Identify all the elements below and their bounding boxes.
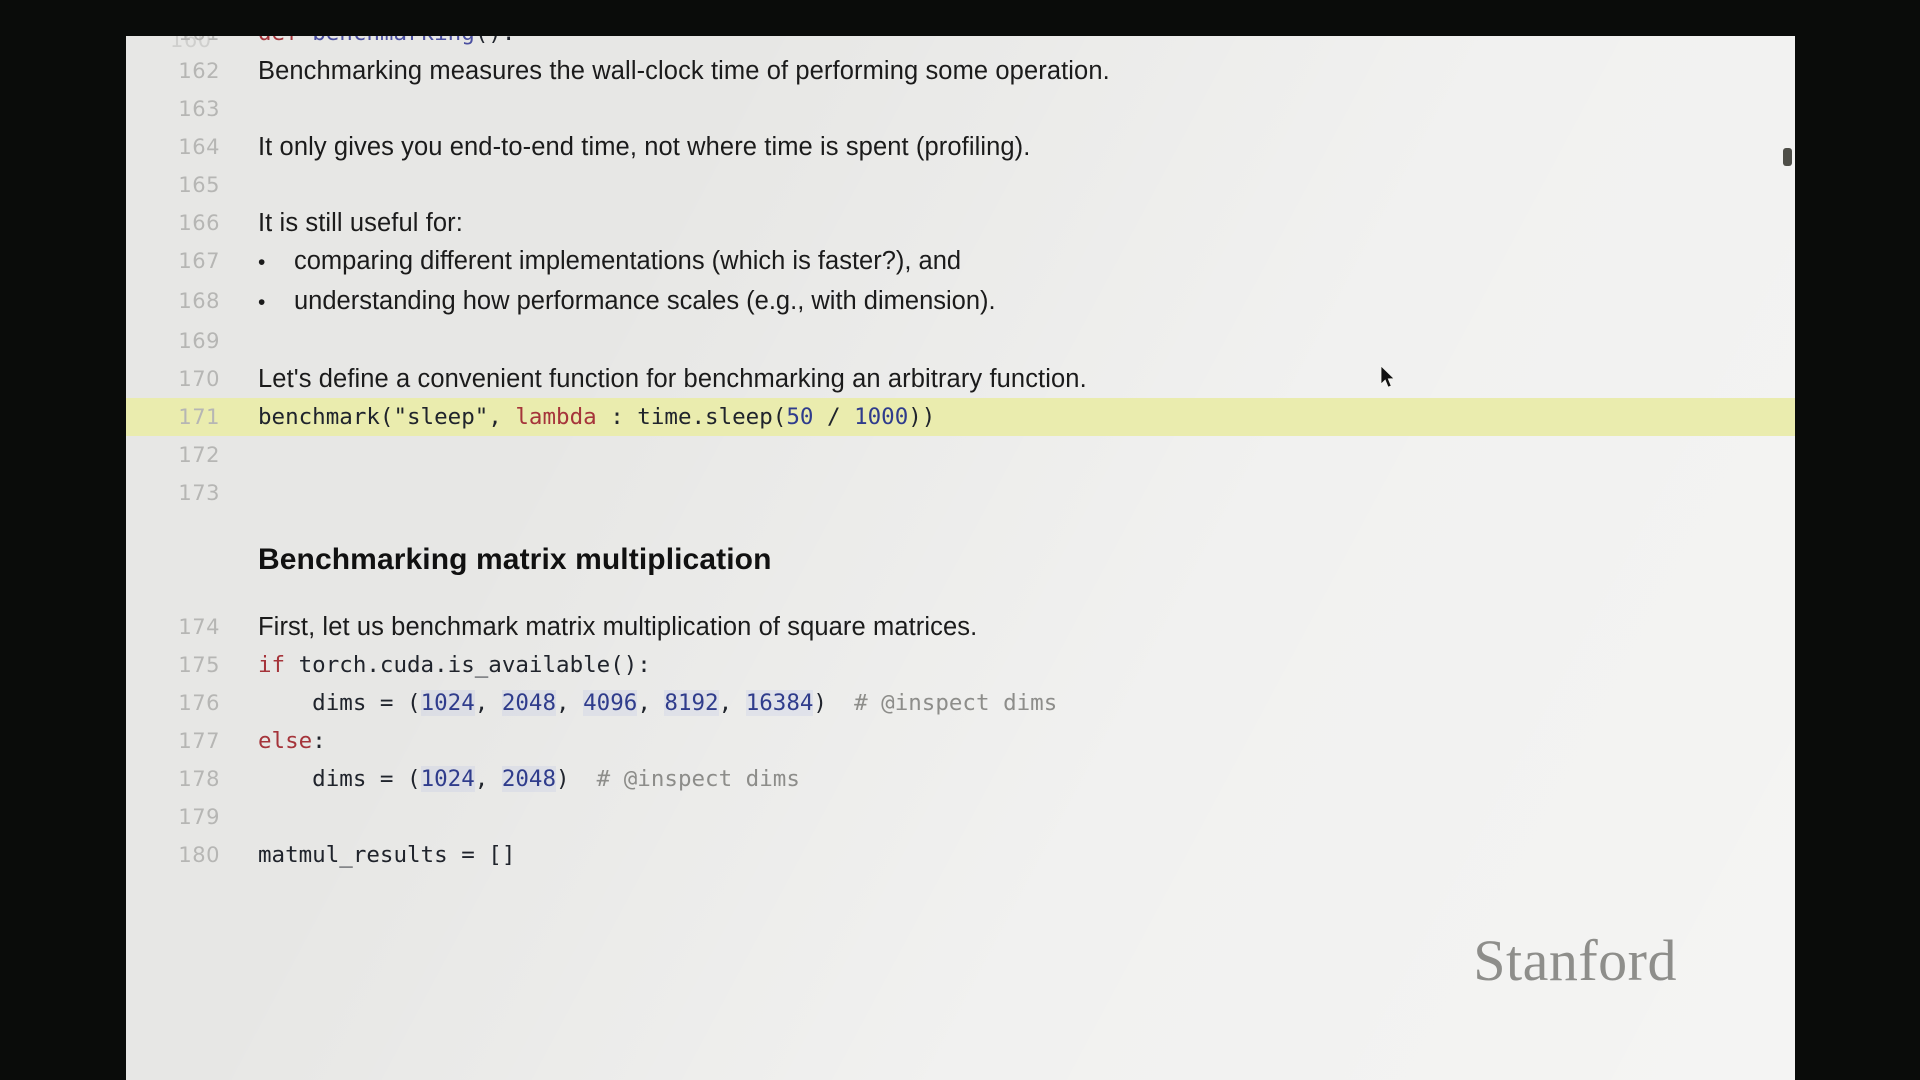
code-token-pln: dims = ( — [258, 766, 421, 792]
line-number: 178 — [126, 760, 220, 798]
stanford-watermark: Stanford — [1473, 927, 1677, 994]
line-number: 166 — [126, 204, 220, 242]
code-token-num: 8192 — [664, 690, 718, 716]
bullet-dot-icon: • — [258, 284, 294, 322]
code-token-pln: dims = ( — [258, 690, 421, 716]
code-token-num: 1024 — [421, 690, 475, 716]
code-token-num: 16384 — [746, 690, 814, 716]
code-line[interactable]: Benchmarking matrix multiplication — [126, 512, 1795, 608]
code-token-cmt: # @inspect dims — [597, 766, 800, 792]
line-number: 179 — [126, 798, 220, 836]
code-token-num: 4096 — [583, 690, 637, 716]
prose-text: It is still useful for: — [220, 204, 1795, 242]
notebook-document[interactable]: 160 161def benchmarking():162Benchmarkin… — [126, 36, 1795, 1080]
line-number: 173 — [126, 474, 220, 512]
prose-text: Benchmarking measures the wall-clock tim… — [220, 52, 1795, 90]
code-token-pln: : time.sleep( — [597, 404, 787, 430]
line-number: 175 — [126, 646, 220, 684]
line-number: 174 — [126, 608, 220, 646]
code-line[interactable]: 170Let's define a convenient function fo… — [126, 360, 1795, 398]
blank-line — [220, 166, 1795, 204]
code-line[interactable]: 163 — [126, 90, 1795, 128]
code-token-pln: , — [475, 766, 502, 792]
video-frame: 160 161def benchmarking():162Benchmarkin… — [0, 0, 1920, 1080]
code-token-num: 1000 — [854, 404, 908, 430]
code-text: dims = (1024, 2048) # @inspect dims — [220, 760, 1795, 798]
line-number: 172 — [126, 436, 220, 474]
code-text: if torch.cuda.is_available(): — [220, 646, 1795, 684]
line-number: 163 — [126, 90, 220, 128]
code-line[interactable]: 168•understanding how performance scales… — [126, 282, 1795, 322]
code-line[interactable]: 178 dims = (1024, 2048) # @inspect dims — [126, 760, 1795, 798]
line-number: 169 — [126, 322, 220, 360]
scrollbar-thumb[interactable] — [1783, 148, 1792, 166]
line-number: 170 — [126, 360, 220, 398]
code-token-fn: benchmarking — [312, 36, 475, 46]
code-text: dims = (1024, 2048, 4096, 8192, 16384) #… — [220, 684, 1795, 722]
prose-text: Let's define a convenient function for b… — [220, 360, 1795, 398]
line-number: 171 — [126, 398, 220, 436]
code-token-pln: / — [813, 404, 854, 430]
code-token-num: 2048 — [502, 766, 556, 792]
code-line[interactable]: 173 — [126, 474, 1795, 512]
line-number: 168 — [126, 282, 220, 320]
code-line[interactable]: 161def benchmarking(): — [126, 36, 1795, 52]
code-token-pln: , — [475, 690, 502, 716]
code-token-kw: else — [258, 728, 312, 754]
code-token-pln: (): — [475, 36, 516, 46]
code-token-kw: def — [258, 36, 312, 46]
blank-line — [220, 474, 1795, 512]
blank-line — [220, 436, 1795, 474]
code-line[interactable]: 162Benchmarking measures the wall-clock … — [126, 52, 1795, 90]
line-number: 165 — [126, 166, 220, 204]
bullet-item: •comparing different implementations (wh… — [220, 242, 1795, 282]
line-number: 176 — [126, 684, 220, 722]
code-token-kw: lambda — [515, 404, 596, 430]
code-line[interactable]: 166It is still useful for: — [126, 204, 1795, 242]
code-token-kw: if — [258, 652, 285, 678]
line-number: 164 — [126, 128, 220, 166]
code-line[interactable]: 174First, let us benchmark matrix multip… — [126, 608, 1795, 646]
code-token-pln: ) — [556, 766, 597, 792]
code-line[interactable]: 177else: — [126, 722, 1795, 760]
code-line[interactable]: 165 — [126, 166, 1795, 204]
line-number: 167 — [126, 242, 220, 280]
code-token-num: 2048 — [502, 690, 556, 716]
code-token-pln: benchmark("sleep", — [258, 404, 515, 430]
bullet-dot-icon: • — [258, 244, 294, 282]
line-number: 162 — [126, 52, 220, 90]
blank-line — [220, 322, 1795, 360]
code-token-pln: , — [637, 690, 664, 716]
code-token-num: 50 — [786, 404, 813, 430]
line-number: 177 — [126, 722, 220, 760]
code-line[interactable]: 175if torch.cuda.is_available(): — [126, 646, 1795, 684]
code-token-pln: matmul_results = [] — [258, 842, 515, 868]
code-token-pln: ) — [813, 690, 854, 716]
code-token-cmt: # @inspect dims — [854, 690, 1057, 716]
code-text: else: — [220, 722, 1795, 760]
line-number: 161 — [126, 36, 220, 52]
section-heading: Benchmarking matrix multiplication — [220, 512, 1795, 608]
prose-text: It only gives you end-to-end time, not w… — [220, 128, 1795, 166]
code-token-pln: )) — [908, 404, 935, 430]
bullet-item: •understanding how performance scales (e… — [220, 282, 1795, 322]
code-line[interactable]: 169 — [126, 322, 1795, 360]
code-line-highlighted[interactable]: 171benchmark("sleep", lambda : time.slee… — [126, 398, 1795, 436]
prose-text: First, let us benchmark matrix multiplic… — [220, 608, 1795, 646]
bullet-label: understanding how performance scales (e.… — [294, 282, 1795, 320]
code-token-pln: torch.cuda.is_available(): — [285, 652, 651, 678]
blank-line — [220, 90, 1795, 128]
code-line[interactable]: 172 — [126, 436, 1795, 474]
code-line[interactable]: 180matmul_results = [] — [126, 836, 1795, 874]
code-token-num: 1024 — [421, 766, 475, 792]
code-token-pln: : — [312, 728, 326, 754]
code-text: def benchmarking(): — [220, 36, 1795, 52]
code-token-pln: , — [556, 690, 583, 716]
blank-line — [220, 798, 1795, 836]
line-number: 180 — [126, 836, 220, 874]
code-line[interactable]: 164It only gives you end-to-end time, no… — [126, 128, 1795, 166]
vertical-scrollbar[interactable] — [1781, 36, 1795, 1080]
code-token-pln: , — [719, 690, 746, 716]
bullet-label: comparing different implementations (whi… — [294, 242, 1795, 280]
code-line-list: 161def benchmarking():162Benchmarking me… — [126, 36, 1795, 874]
code-line[interactable]: 167•comparing different implementations … — [126, 242, 1795, 282]
code-line[interactable]: 179 — [126, 798, 1795, 836]
code-text: benchmark("sleep", lambda : time.sleep(5… — [220, 398, 1795, 436]
code-line[interactable]: 176 dims = (1024, 2048, 4096, 8192, 1638… — [126, 684, 1795, 722]
code-text: matmul_results = [] — [220, 836, 1795, 874]
